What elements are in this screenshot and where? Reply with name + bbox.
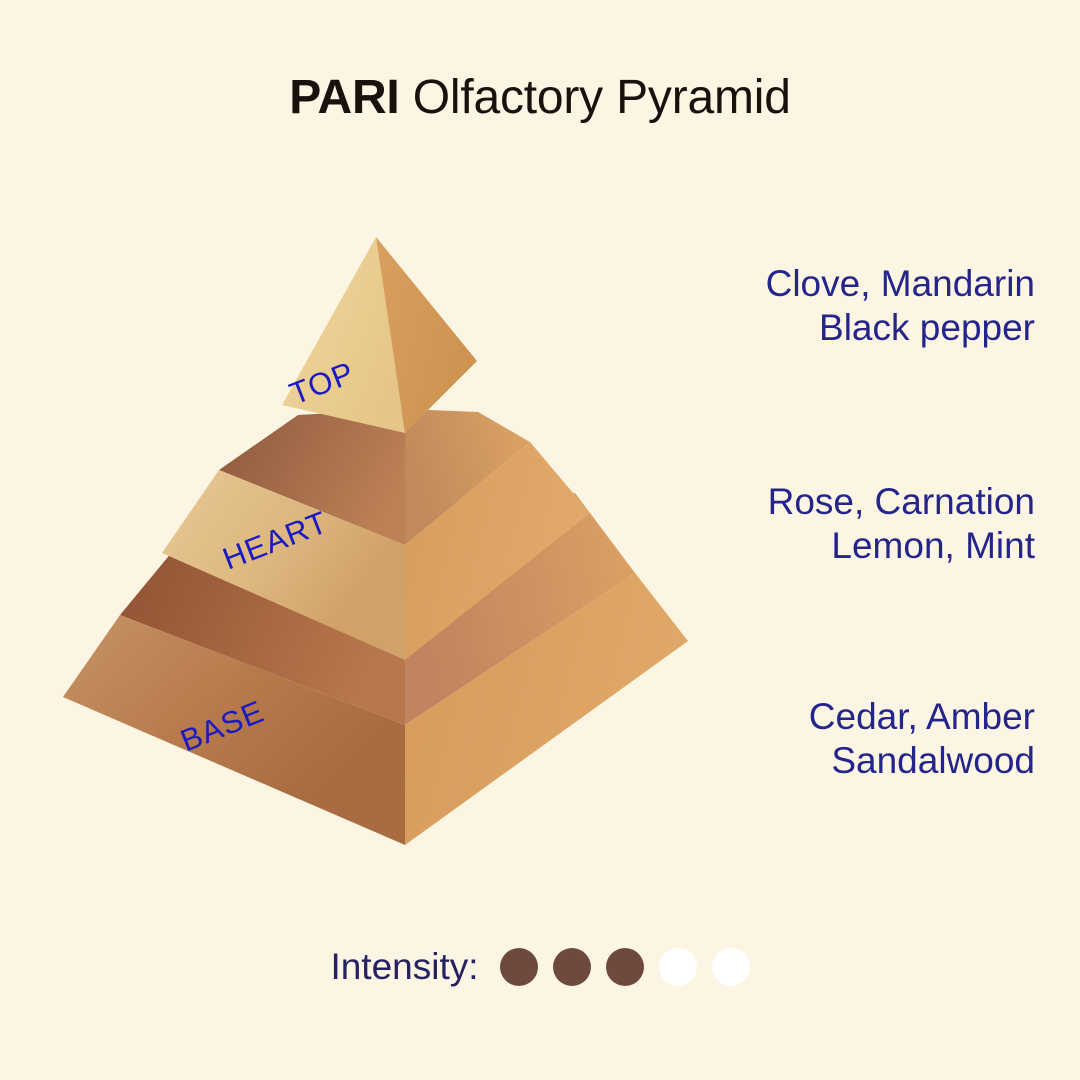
intensity-meter: Intensity:: [0, 946, 1080, 988]
intensity-dot-1[interactable]: [500, 948, 538, 986]
tier-notes-top-line2: Black pepper: [615, 306, 1035, 350]
intensity-dot-5[interactable]: [712, 948, 750, 986]
intensity-dot-4[interactable]: [659, 948, 697, 986]
tier-notes-heart-line1: Rose, Carnation: [615, 480, 1035, 524]
tier-notes-top: Clove, Mandarin Black pepper: [615, 262, 1035, 350]
tier-notes-base-line1: Cedar, Amber: [615, 695, 1035, 739]
intensity-label: Intensity:: [330, 946, 478, 988]
pyramid-tier-top[interactable]: TOP: [282, 237, 477, 433]
intensity-dot-2[interactable]: [553, 948, 591, 986]
tier-notes-heart-line2: Lemon, Mint: [615, 524, 1035, 568]
tier-notes-top-line1: Clove, Mandarin: [615, 262, 1035, 306]
tier-notes-heart: Rose, Carnation Lemon, Mint: [615, 480, 1035, 568]
tier-notes-base-line2: Sandalwood: [615, 739, 1035, 783]
intensity-dots[interactable]: [500, 948, 750, 986]
tier-notes-base: Cedar, Amber Sandalwood: [615, 695, 1035, 783]
intensity-dot-3[interactable]: [606, 948, 644, 986]
poster-canvas: PARI Olfactory Pyramid: [0, 0, 1080, 1080]
